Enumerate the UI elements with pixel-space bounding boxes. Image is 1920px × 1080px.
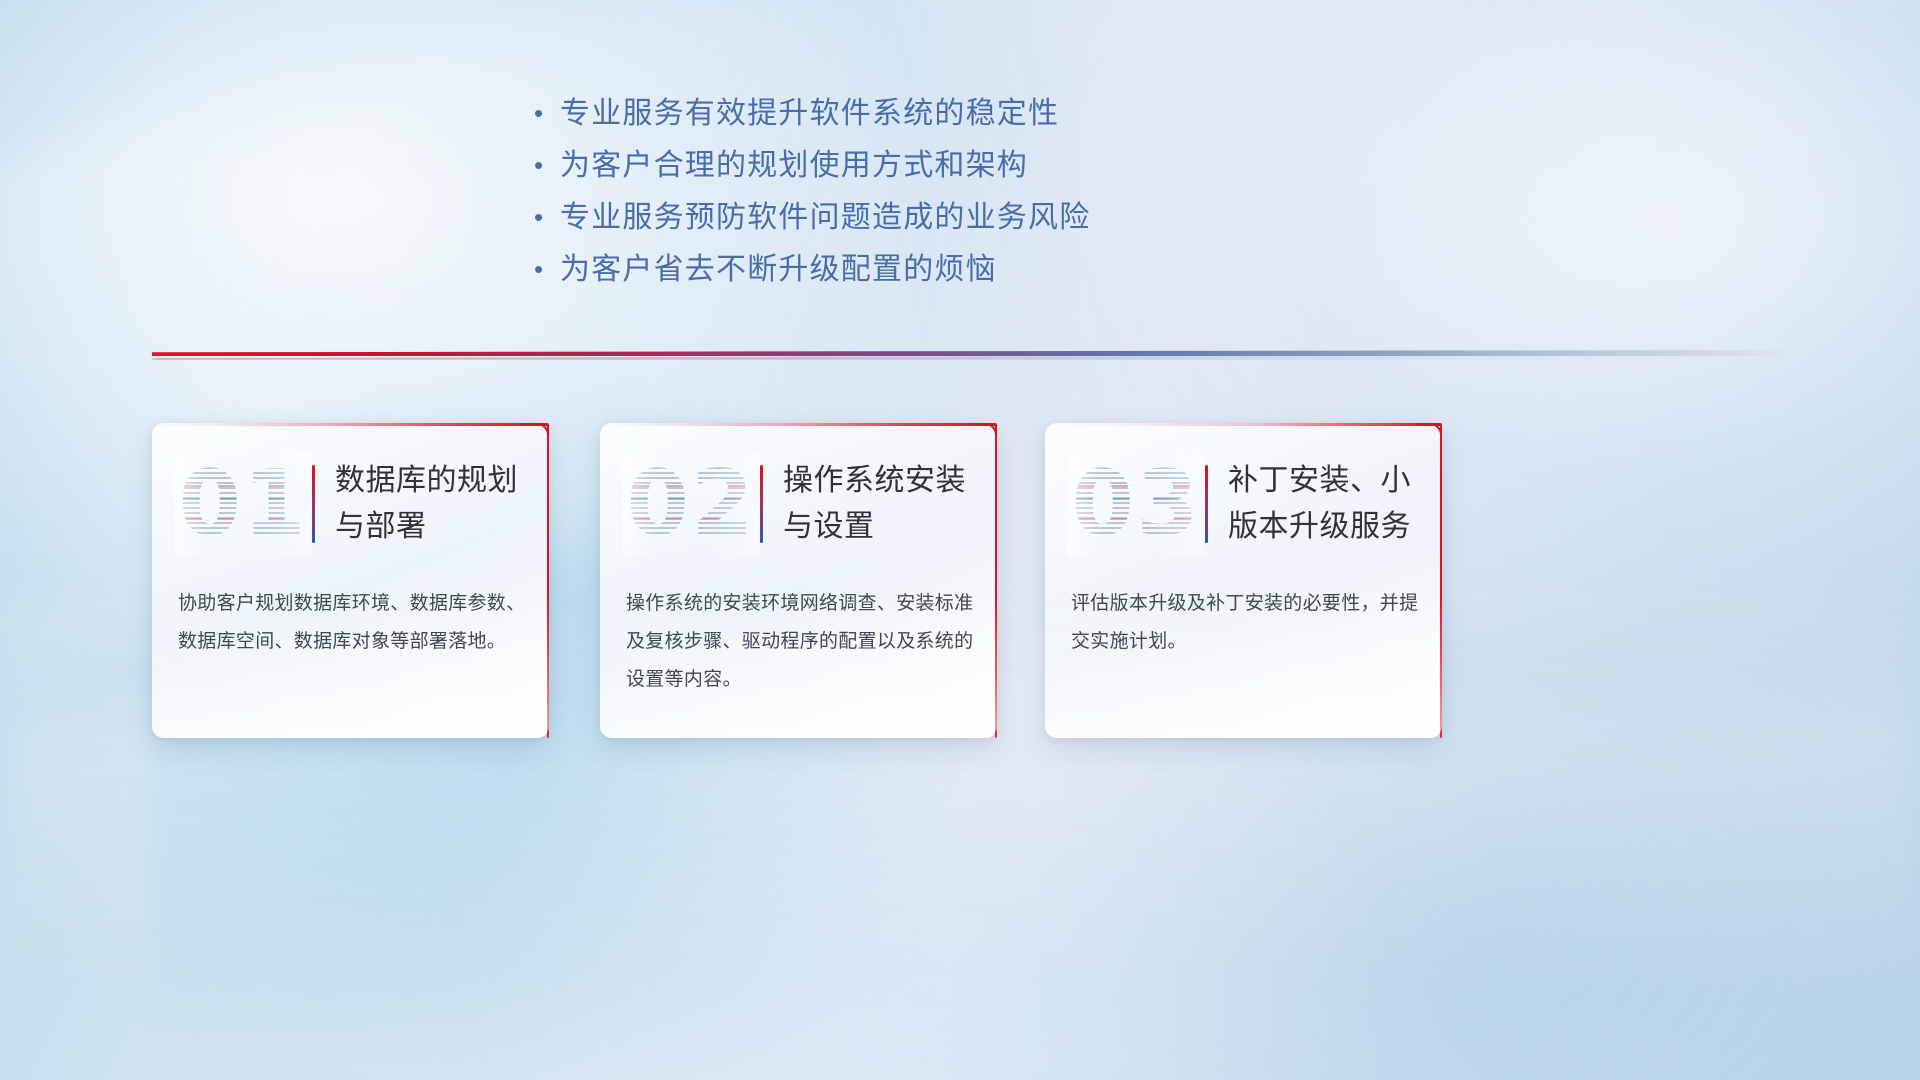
card-title: 操作系统安装与设置 <box>783 458 997 550</box>
service-card-03[interactable]: 03 03 03 补丁安装、小版本升级服务 评估版本升级及补丁安装的必要性，并提… <box>1045 423 1442 738</box>
card-title-divider-bar <box>1205 465 1208 543</box>
bullet-item: • 专业服务有效提升软件系统的稳定性 <box>530 88 1430 140</box>
card-accent-top-border <box>1045 423 1442 426</box>
card-number-badge: 03 03 03 <box>1067 452 1205 556</box>
card-accent-top-border <box>152 423 549 426</box>
benefits-bullet-list: • 专业服务有效提升软件系统的稳定性 • 为客户合理的规划使用方式和架构 • 专… <box>530 88 1430 296</box>
card-number-stripes-blue: 03 <box>1067 452 1205 556</box>
service-card-01[interactable]: 01 01 01 数据库的规划与部署 协助客户规划数据库环境、数据库参数、数据库… <box>152 423 549 738</box>
slide-canvas: • 专业服务有效提升软件系统的稳定性 • 为客户合理的规划使用方式和架构 • 专… <box>0 0 1920 1080</box>
bullet-item: • 专业服务预防软件问题造成的业务风险 <box>530 192 1430 244</box>
bullet-dot-icon: • <box>530 244 560 294</box>
card-title-divider-bar <box>760 465 763 543</box>
divider-gradient-bar <box>152 350 1787 356</box>
card-header: 03 03 03 补丁安装、小版本升级服务 <box>1045 439 1442 569</box>
card-number-stripes-blue: 01 <box>174 452 312 556</box>
bullet-item-label: 为客户省去不断升级配置的烦恼 <box>560 244 997 296</box>
card-title-divider-bar <box>312 465 315 543</box>
card-accent-top-border <box>600 423 997 426</box>
card-title: 补丁安装、小版本升级服务 <box>1228 458 1442 550</box>
card-title: 数据库的规划与部署 <box>335 458 549 550</box>
card-number-stripes-blue: 02 <box>622 452 760 556</box>
bullet-item-label: 专业服务有效提升软件系统的稳定性 <box>560 88 1059 140</box>
card-description: 协助客户规划数据库环境、数据库参数、数据库空间、数据库对象等部署落地。 <box>178 585 527 661</box>
service-card-group: 01 01 01 数据库的规划与部署 协助客户规划数据库环境、数据库参数、数据库… <box>0 423 1920 748</box>
card-number-badge: 01 01 01 <box>174 452 312 556</box>
service-card-02[interactable]: 02 02 02 操作系统安装与设置 操作系统的安装环境网络调查、安装标准及复核… <box>600 423 997 738</box>
card-header: 01 01 01 数据库的规划与部署 <box>152 439 549 569</box>
card-description: 操作系统的安装环境网络调查、安装标准及复核步骤、驱动程序的配置以及系统的设置等内… <box>626 585 975 699</box>
card-header: 02 02 02 操作系统安装与设置 <box>600 439 997 569</box>
bullet-dot-icon: • <box>530 140 560 190</box>
bullet-item: • 为客户省去不断升级配置的烦恼 <box>530 244 1430 296</box>
bullet-dot-icon: • <box>530 88 560 138</box>
bullet-dot-icon: • <box>530 192 560 242</box>
card-number-badge: 02 02 02 <box>622 452 760 556</box>
section-divider <box>152 346 1787 368</box>
bullet-item: • 为客户合理的规划使用方式和架构 <box>530 140 1430 192</box>
card-description: 评估版本升级及补丁安装的必要性，并提交实施计划。 <box>1071 585 1420 661</box>
bullet-item-label: 为客户合理的规划使用方式和架构 <box>560 140 1028 192</box>
bullet-item-label: 专业服务预防软件问题造成的业务风险 <box>560 192 1090 244</box>
